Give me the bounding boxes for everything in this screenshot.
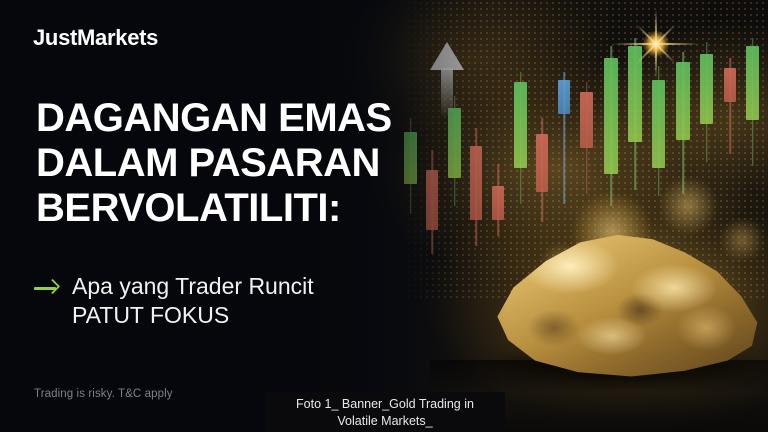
subheading-line-1: Apa yang Trader Runcit <box>72 272 314 301</box>
banner-root: JustMarkets DAGANGAN EMAS DALAM PASARAN … <box>0 0 768 432</box>
brand-logo: JustMarkets <box>33 27 158 49</box>
page-title: DAGANGAN EMAS DALAM PASARAN BERVOLATILIT… <box>36 96 466 232</box>
content-overlay: JustMarkets DAGANGAN EMAS DALAM PASARAN … <box>0 0 768 432</box>
headline-line-3: BERVOLATILITI: <box>36 186 466 231</box>
headline-line-1: DAGANGAN EMAS <box>36 96 466 141</box>
subheading-text: Apa yang Trader Runcit PATUT FOKUS <box>72 272 314 330</box>
caption-overlay: Foto 1_ Banner_Gold Trading in Volatile … <box>265 392 505 432</box>
caption-line-2: Volatile Markets_ <box>337 413 432 430</box>
arrow-right-icon <box>33 274 61 302</box>
headline-line-2: DALAM PASARAN <box>36 141 466 186</box>
caption-line-1: Foto 1_ Banner_Gold Trading in <box>296 396 474 413</box>
risk-disclaimer: Trading is risky. T&C apply <box>34 388 173 400</box>
subheading: Apa yang Trader Runcit PATUT FOKUS <box>33 272 463 330</box>
subheading-line-2: PATUT FOKUS <box>72 301 314 330</box>
